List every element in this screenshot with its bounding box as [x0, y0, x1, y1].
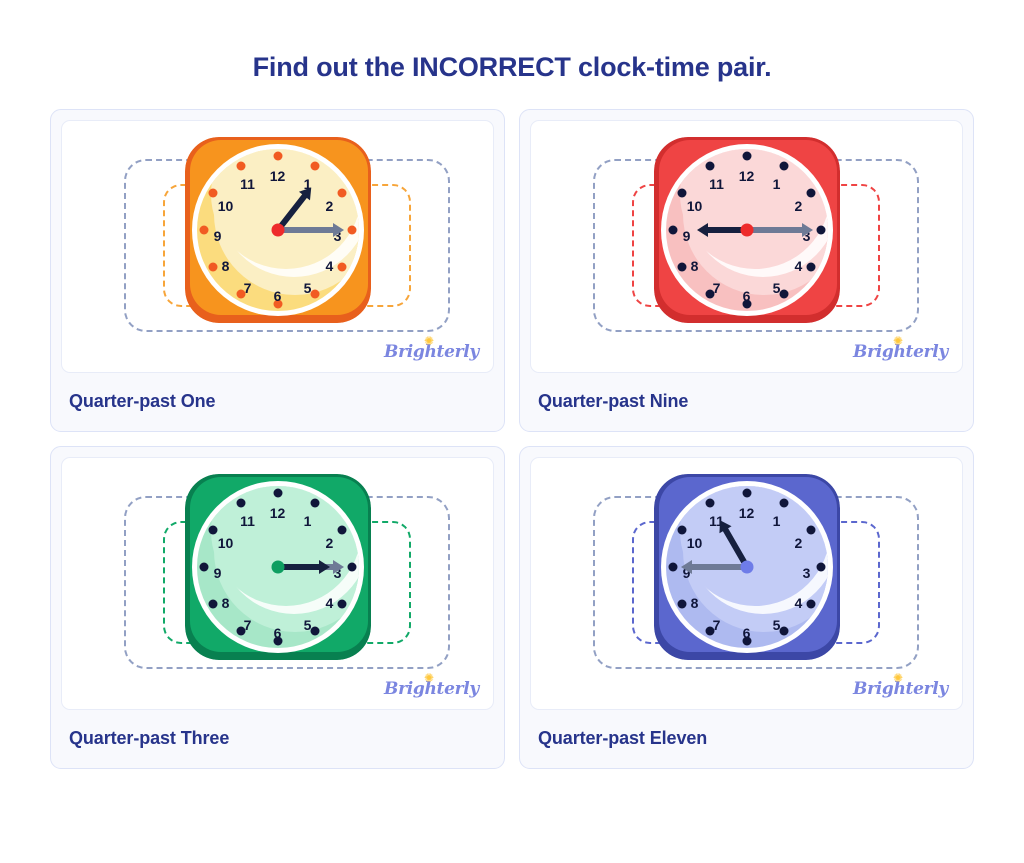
hour-marker-dot — [337, 189, 346, 198]
brighterly-logo: Brighterly✺ — [853, 679, 948, 699]
clock-number: 3 — [803, 566, 811, 580]
clock-number: 1 — [773, 177, 781, 191]
clock-number: 10 — [687, 536, 703, 550]
clock-number: 6 — [274, 626, 282, 640]
clock-number: 9 — [214, 566, 222, 580]
clock-card-grid: 121234567891011Brighterly✺Quarter-past O… — [50, 109, 974, 769]
clock-number: 2 — [795, 536, 803, 550]
quiz-page: Find out the INCORRECT clock-time pair. … — [0, 0, 1024, 863]
clock-center-pin — [740, 561, 753, 574]
hour-marker-dot — [779, 161, 788, 170]
clock-number: 9 — [683, 229, 691, 243]
hour-marker-dot — [209, 189, 218, 198]
clock-number: 7 — [244, 618, 252, 632]
clock-number: 8 — [691, 259, 699, 273]
clock-number: 10 — [687, 199, 703, 213]
clock-icon: 121234567891011 — [654, 474, 840, 660]
hour-marker-dot — [209, 263, 218, 272]
sunburst-icon: ✺ — [893, 671, 903, 685]
clock-number: 8 — [691, 596, 699, 610]
clock-scene: 121234567891011Brighterly✺ — [62, 458, 493, 709]
minute-hand — [278, 227, 344, 233]
clock-number: 5 — [773, 618, 781, 632]
hour-marker-dot — [209, 600, 218, 609]
hour-marker-dot — [347, 226, 356, 235]
hour-hand-tip — [319, 560, 330, 574]
clock-number: 12 — [270, 506, 286, 520]
hour-marker-dot — [806, 263, 815, 272]
hour-marker-dot — [310, 161, 319, 170]
clock-scene: 121234567891011Brighterly✺ — [531, 458, 962, 709]
hour-hand — [697, 227, 747, 233]
clock-number: 4 — [326, 259, 334, 273]
clock-number: 1 — [773, 514, 781, 528]
hour-marker-dot — [236, 498, 245, 507]
clock-number: 4 — [795, 259, 803, 273]
clock-number: 2 — [795, 199, 803, 213]
clock-illustration-panel: 121234567891011Brighterly✺ — [61, 457, 494, 710]
clock-number: 7 — [713, 281, 721, 295]
hour-marker-dot — [678, 600, 687, 609]
clock-illustration-panel: 121234567891011Brighterly✺ — [61, 120, 494, 373]
brighterly-logo: Brighterly✺ — [384, 342, 479, 362]
hour-marker-dot — [273, 489, 282, 498]
hour-marker-dot — [705, 161, 714, 170]
clock-number: 11 — [240, 177, 255, 191]
hour-marker-dot — [806, 189, 815, 198]
hour-hand — [278, 564, 330, 570]
hour-marker-dot — [199, 563, 208, 572]
brighterly-logo: Brighterly✺ — [384, 679, 479, 699]
hour-marker-dot — [668, 563, 677, 572]
clock-number: 6 — [743, 289, 751, 303]
clock-number: 7 — [244, 281, 252, 295]
clock-body: 121234567891011 — [185, 474, 371, 660]
hour-marker-dot — [816, 226, 825, 235]
minute-hand-tip — [802, 223, 813, 237]
clock-number: 8 — [222, 259, 230, 273]
clock-number: 12 — [270, 169, 286, 183]
clock-number: 9 — [214, 229, 222, 243]
hour-marker-dot — [337, 600, 346, 609]
sunburst-icon: ✺ — [424, 334, 434, 348]
clock-scene: 121234567891011Brighterly✺ — [62, 121, 493, 372]
minute-hand-shaft — [689, 564, 747, 570]
clock-body: 121234567891011 — [185, 137, 371, 323]
clock-number: 10 — [218, 536, 234, 550]
clock-center-pin — [271, 561, 284, 574]
hour-hand-tip — [697, 223, 708, 237]
clock-card[interactable]: 121234567891011Brighterly✺Quarter-past T… — [50, 446, 505, 769]
hour-marker-dot — [806, 600, 815, 609]
clock-number: 8 — [222, 596, 230, 610]
hour-hand-shaft — [278, 564, 322, 570]
clock-number: 6 — [743, 626, 751, 640]
clock-body: 121234567891011 — [654, 474, 840, 660]
clock-icon: 121234567891011 — [654, 137, 840, 323]
hour-marker-dot — [236, 161, 245, 170]
hour-marker-dot — [806, 526, 815, 535]
clock-card-label: Quarter-past One — [61, 373, 494, 412]
clock-illustration-panel: 121234567891011Brighterly✺ — [530, 457, 963, 710]
clock-number: 2 — [326, 536, 334, 550]
hour-marker-dot — [705, 498, 714, 507]
minute-hand-tip — [333, 560, 344, 574]
clock-card[interactable]: 121234567891011Brighterly✺Quarter-past N… — [519, 109, 974, 432]
clock-number: 11 — [709, 177, 724, 191]
clock-card[interactable]: 121234567891011Brighterly✺Quarter-past O… — [50, 109, 505, 432]
clock-body: 121234567891011 — [654, 137, 840, 323]
clock-icon: 121234567891011 — [185, 137, 371, 323]
minute-hand-tip — [681, 560, 692, 574]
clock-number: 1 — [304, 514, 312, 528]
hour-marker-dot — [199, 226, 208, 235]
minute-hand-tip — [333, 223, 344, 237]
clock-card-label: Quarter-past Eleven — [530, 710, 963, 749]
clock-number: 2 — [326, 199, 334, 213]
clock-number: 5 — [304, 618, 312, 632]
minute-hand — [747, 227, 813, 233]
clock-card-label: Quarter-past Three — [61, 710, 494, 749]
clock-number: 5 — [773, 281, 781, 295]
brighterly-logo: Brighterly✺ — [853, 342, 948, 362]
clock-number: 12 — [739, 506, 755, 520]
hour-marker-dot — [668, 226, 677, 235]
hour-marker-dot — [742, 489, 751, 498]
hour-marker-dot — [678, 189, 687, 198]
sunburst-icon: ✺ — [424, 671, 434, 685]
sunburst-icon: ✺ — [893, 334, 903, 348]
clock-center-pin — [271, 224, 284, 237]
clock-illustration-panel: 121234567891011Brighterly✺ — [530, 120, 963, 373]
minute-hand-shaft — [747, 227, 805, 233]
clock-number: 12 — [739, 169, 755, 183]
hour-marker-dot — [779, 498, 788, 507]
hour-marker-dot — [337, 526, 346, 535]
page-title: Find out the INCORRECT clock-time pair. — [0, 0, 1024, 83]
hour-marker-dot — [678, 526, 687, 535]
minute-hand-shaft — [278, 227, 336, 233]
clock-number: 7 — [713, 618, 721, 632]
hour-marker-dot — [209, 526, 218, 535]
clock-number: 6 — [274, 289, 282, 303]
clock-center-pin — [740, 224, 753, 237]
clock-number: 4 — [795, 596, 803, 610]
clock-scene: 121234567891011Brighterly✺ — [531, 121, 962, 372]
hour-marker-dot — [310, 498, 319, 507]
clock-number: 11 — [240, 514, 255, 528]
clock-number: 5 — [304, 281, 312, 295]
hour-marker-dot — [678, 263, 687, 272]
clock-number: 10 — [218, 199, 234, 213]
hour-marker-dot — [742, 152, 751, 161]
hour-marker-dot — [347, 563, 356, 572]
clock-icon: 121234567891011 — [185, 474, 371, 660]
hour-marker-dot — [337, 263, 346, 272]
hour-marker-dot — [816, 563, 825, 572]
clock-number: 4 — [326, 596, 334, 610]
clock-card[interactable]: 121234567891011Brighterly✺Quarter-past E… — [519, 446, 974, 769]
hour-marker-dot — [273, 152, 282, 161]
clock-card-label: Quarter-past Nine — [530, 373, 963, 412]
minute-hand — [681, 564, 747, 570]
